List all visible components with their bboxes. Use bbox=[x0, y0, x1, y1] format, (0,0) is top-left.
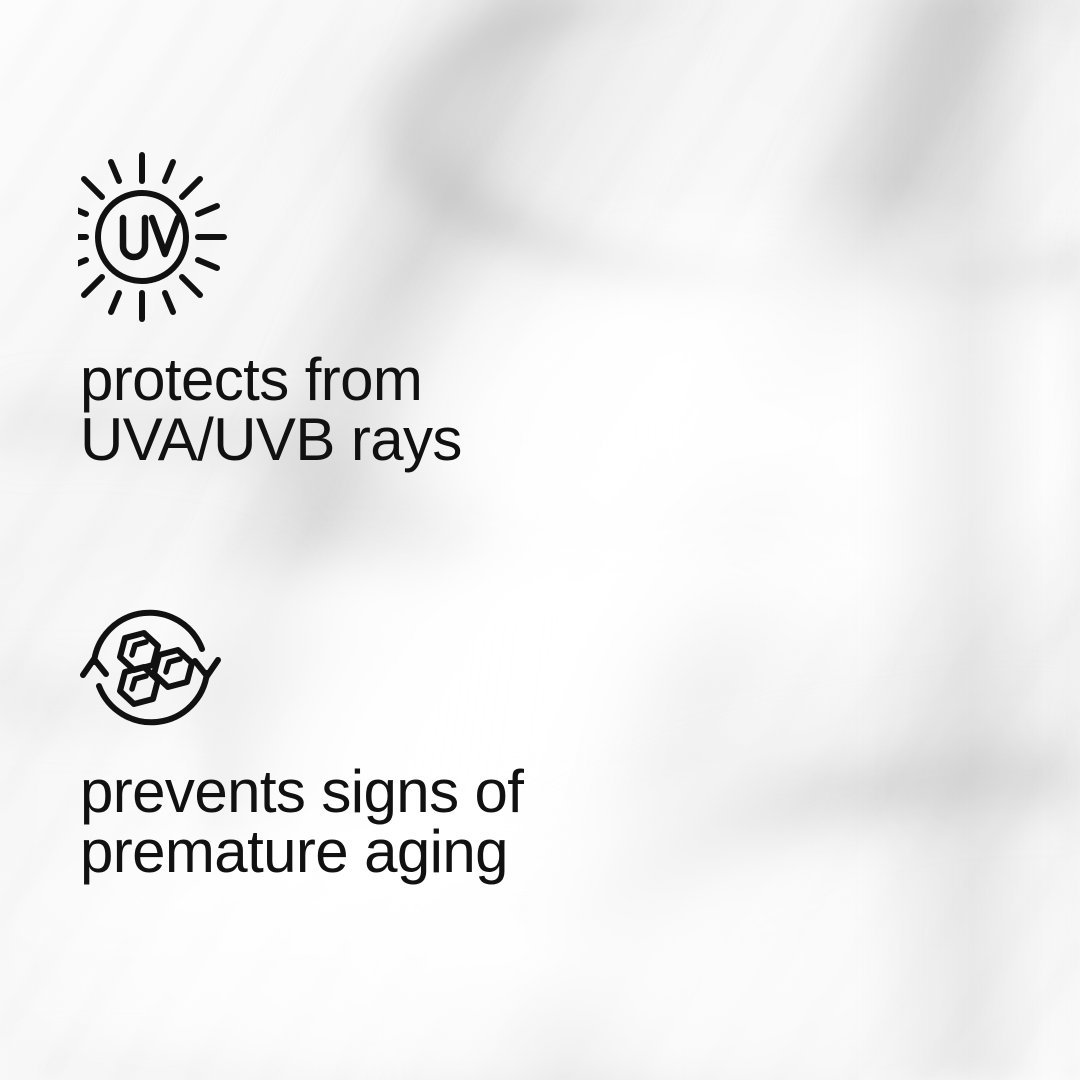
benefit-line: protects from bbox=[80, 350, 462, 410]
uv-letter-u bbox=[123, 218, 145, 257]
uv-ray-wnw bbox=[78, 206, 86, 214]
benefit-text-uv-protection: protects from UVA/UVB rays bbox=[80, 350, 462, 470]
uv-ray-se bbox=[182, 277, 200, 295]
uv-sun-label bbox=[123, 218, 178, 257]
benefit-line: premature aging bbox=[80, 822, 523, 882]
benefit-text-anti-aging: prevents signs of premature aging bbox=[80, 762, 523, 882]
uv-ray-ssw bbox=[111, 293, 119, 312]
honeycomb-cell-top-left bbox=[120, 633, 158, 670]
honeycomb-cell-right bbox=[154, 650, 192, 687]
uv-ray-sw bbox=[84, 277, 102, 295]
honeycomb-mark-right bbox=[166, 659, 180, 672]
uv-ray-ese bbox=[198, 260, 217, 268]
benefit-line: UVA/UVB rays bbox=[80, 410, 462, 470]
uv-ray-ene bbox=[198, 206, 217, 214]
uv-ray-nw bbox=[84, 179, 102, 197]
honeycomb-renewal-icon bbox=[78, 605, 223, 730]
benefit-item-anti-aging: prevents signs of premature aging bbox=[78, 605, 523, 882]
uv-ray-nnw bbox=[111, 162, 119, 181]
renewal-arrow-up bbox=[83, 659, 106, 675]
uv-ray-sse bbox=[165, 293, 173, 312]
benefit-line: prevents signs of bbox=[80, 762, 523, 822]
uv-sun-icon bbox=[78, 148, 268, 323]
renewal-arrow-down bbox=[195, 660, 218, 676]
honeycomb-mark-top-left bbox=[132, 642, 146, 655]
uv-ray-ne bbox=[182, 179, 200, 197]
benefit-item-uv-protection: protects from UVA/UVB rays bbox=[78, 148, 462, 470]
product-benefit-card: protects from UVA/UVB rays bbox=[0, 0, 1080, 1080]
uv-ray-wsw bbox=[78, 260, 86, 268]
uv-ray-nne bbox=[165, 162, 173, 181]
uv-letter-v bbox=[152, 218, 178, 254]
honeycomb-mark-bottom-left bbox=[132, 676, 146, 689]
benefit-list: protects from UVA/UVB rays bbox=[0, 0, 1080, 1080]
